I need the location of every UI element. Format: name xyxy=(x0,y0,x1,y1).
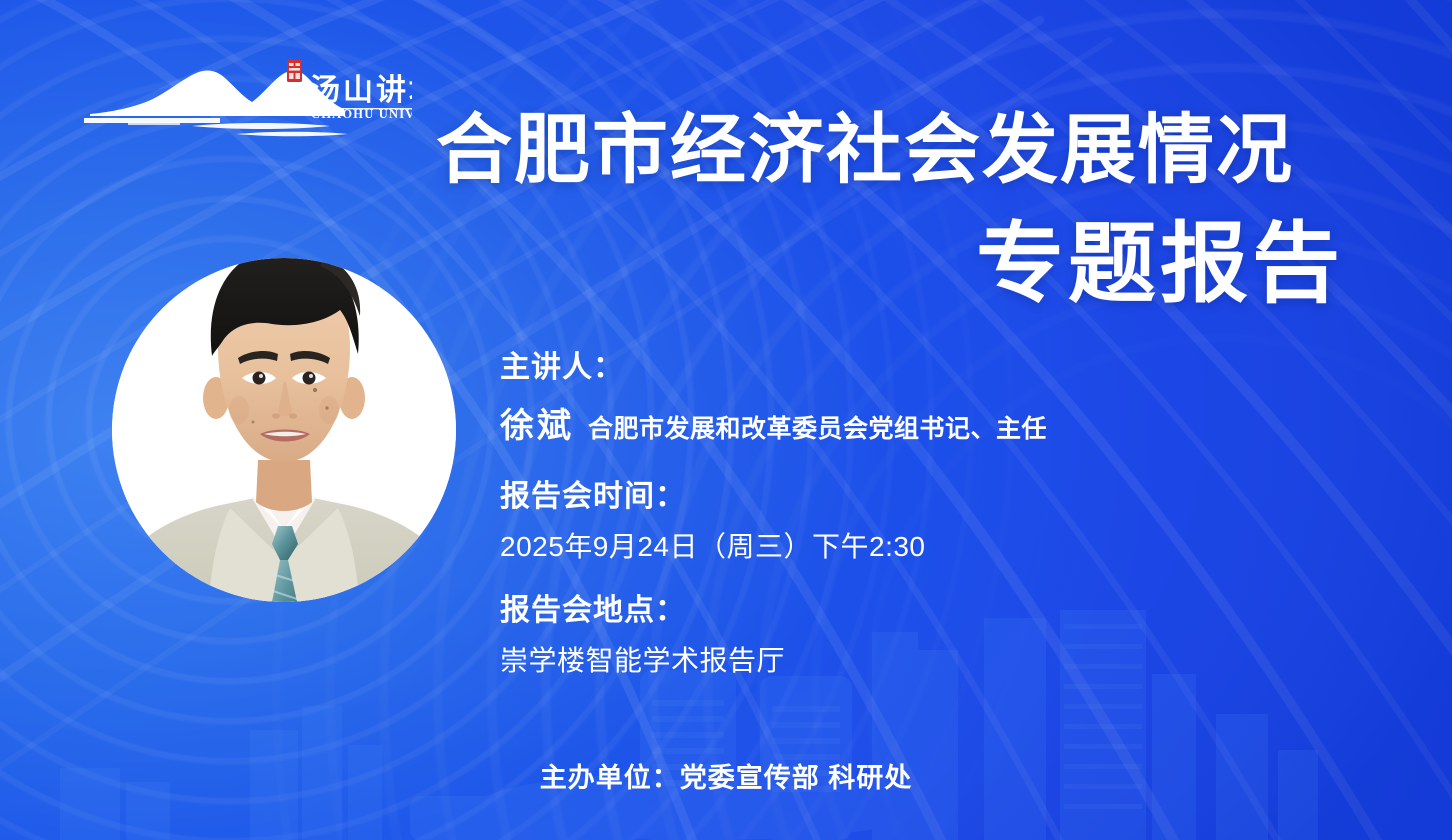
poster-headline: 合肥市经济社会发展情况 专题报告 xyxy=(436,108,1396,312)
time-value: 2025年9月24日（周三）下午2:30 xyxy=(500,527,1380,567)
poster-canvas: 汤山讲坛 CHAOHU UNIVERSITY xyxy=(0,0,1452,840)
speaker-portrait xyxy=(112,230,456,634)
speaker-label: 主讲人： xyxy=(500,348,1380,388)
speaker-row: 徐斌 合肥市发展和改革委员会党组书记、主任 xyxy=(500,404,1380,451)
chaohu-university-logo: 汤山讲坛 CHAOHU UNIVERSITY xyxy=(72,52,412,144)
logo-title: 汤山讲坛 xyxy=(310,73,412,108)
organizer-footer: 主办单位：党委宣传部 科研处 xyxy=(0,756,1452,795)
event-info-block: 主讲人： 徐斌 合肥市发展和改革委员会党组书记、主任 报告会时间： 2025年9… xyxy=(500,348,1380,681)
speaker-title: 合肥市发展和改革委员会党组书记、主任 xyxy=(588,407,1047,451)
venue-value: 崇学楼智能学术报告厅 xyxy=(500,641,1380,681)
headline-line-2: 专题报告 xyxy=(436,216,1396,312)
speaker-name: 徐斌 xyxy=(500,404,574,448)
time-label: 报告会时间： xyxy=(500,477,1380,517)
venue-label: 报告会地点： xyxy=(500,591,1380,631)
headline-line-1: 合肥市经济社会发展情况 xyxy=(436,108,1396,194)
red-seal-icon xyxy=(287,60,302,82)
